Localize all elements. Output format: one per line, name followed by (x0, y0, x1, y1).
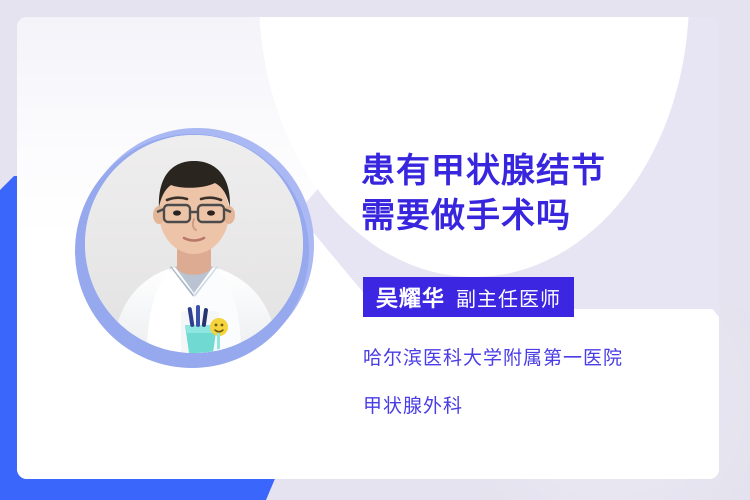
doctor-title: 副主任医师 (456, 283, 561, 312)
doctor-name-badge: 吴耀华 副主任医师 (363, 277, 574, 317)
doctor-name: 吴耀华 (376, 281, 445, 313)
department-name: 甲状腺外科 (363, 391, 463, 418)
hospital-name: 哈尔滨医科大学附属第一医院 (363, 343, 623, 370)
content-card: 患有甲状腺结节 需要做手术吗 吴耀华 副主任医师 哈尔滨医科大学附属第一医院 甲… (17, 17, 719, 479)
page-title: 患有甲状腺结节 需要做手术吗 (361, 149, 691, 239)
doctor-qa-poster: 患有甲状腺结节 需要做手术吗 吴耀华 副主任医师 哈尔滨医科大学附属第一医院 甲… (0, 0, 750, 500)
avatar-photo (85, 135, 303, 353)
text-column: 患有甲状腺结节 需要做手术吗 吴耀华 副主任医师 哈尔滨医科大学附属第一医院 甲… (361, 17, 717, 479)
avatar (63, 122, 313, 372)
